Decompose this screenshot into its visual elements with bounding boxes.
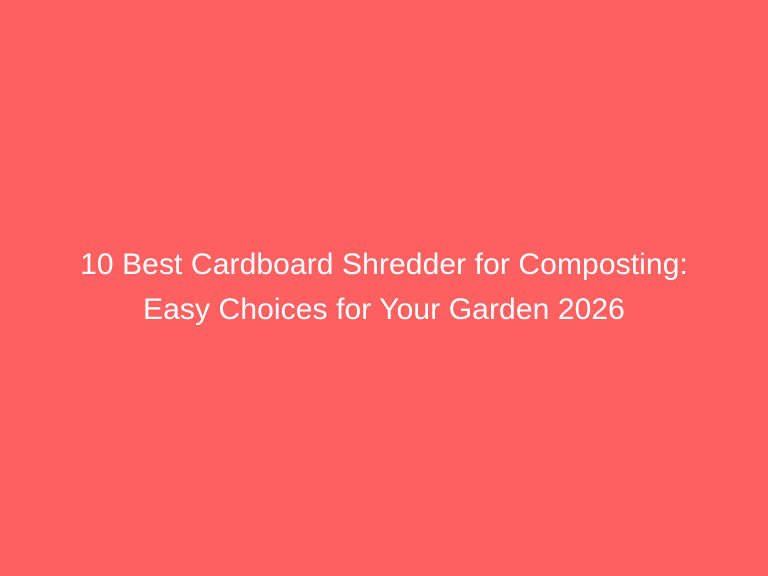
hero-card: 10 Best Cardboard Shredder for Compostin… — [0, 0, 768, 576]
page-title-line-2: Easy Choices for Your Garden 2026 — [34, 287, 734, 332]
page-title: 10 Best Cardboard Shredder for Compostin… — [34, 242, 734, 332]
page-title-line-1: 10 Best Cardboard Shredder for Compostin… — [34, 242, 734, 287]
